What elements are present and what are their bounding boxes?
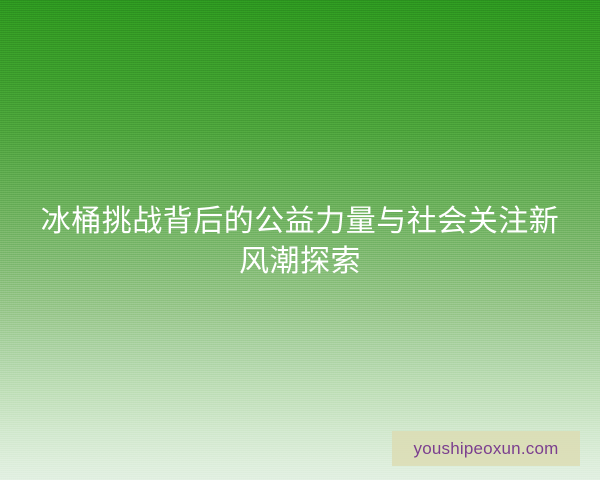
watermark-badge: youshipeoxun.com: [392, 431, 580, 466]
watermark-domain-label: youshipeoxun.com: [414, 440, 559, 457]
cover-image-canvas: 冰桶挑战背后的公益力量与社会关注新风潮探索 youshipeoxun.com: [0, 0, 600, 480]
title-block: 冰桶挑战背后的公益力量与社会关注新风潮探索: [0, 202, 600, 282]
page-title: 冰桶挑战背后的公益力量与社会关注新风潮探索: [26, 202, 574, 282]
